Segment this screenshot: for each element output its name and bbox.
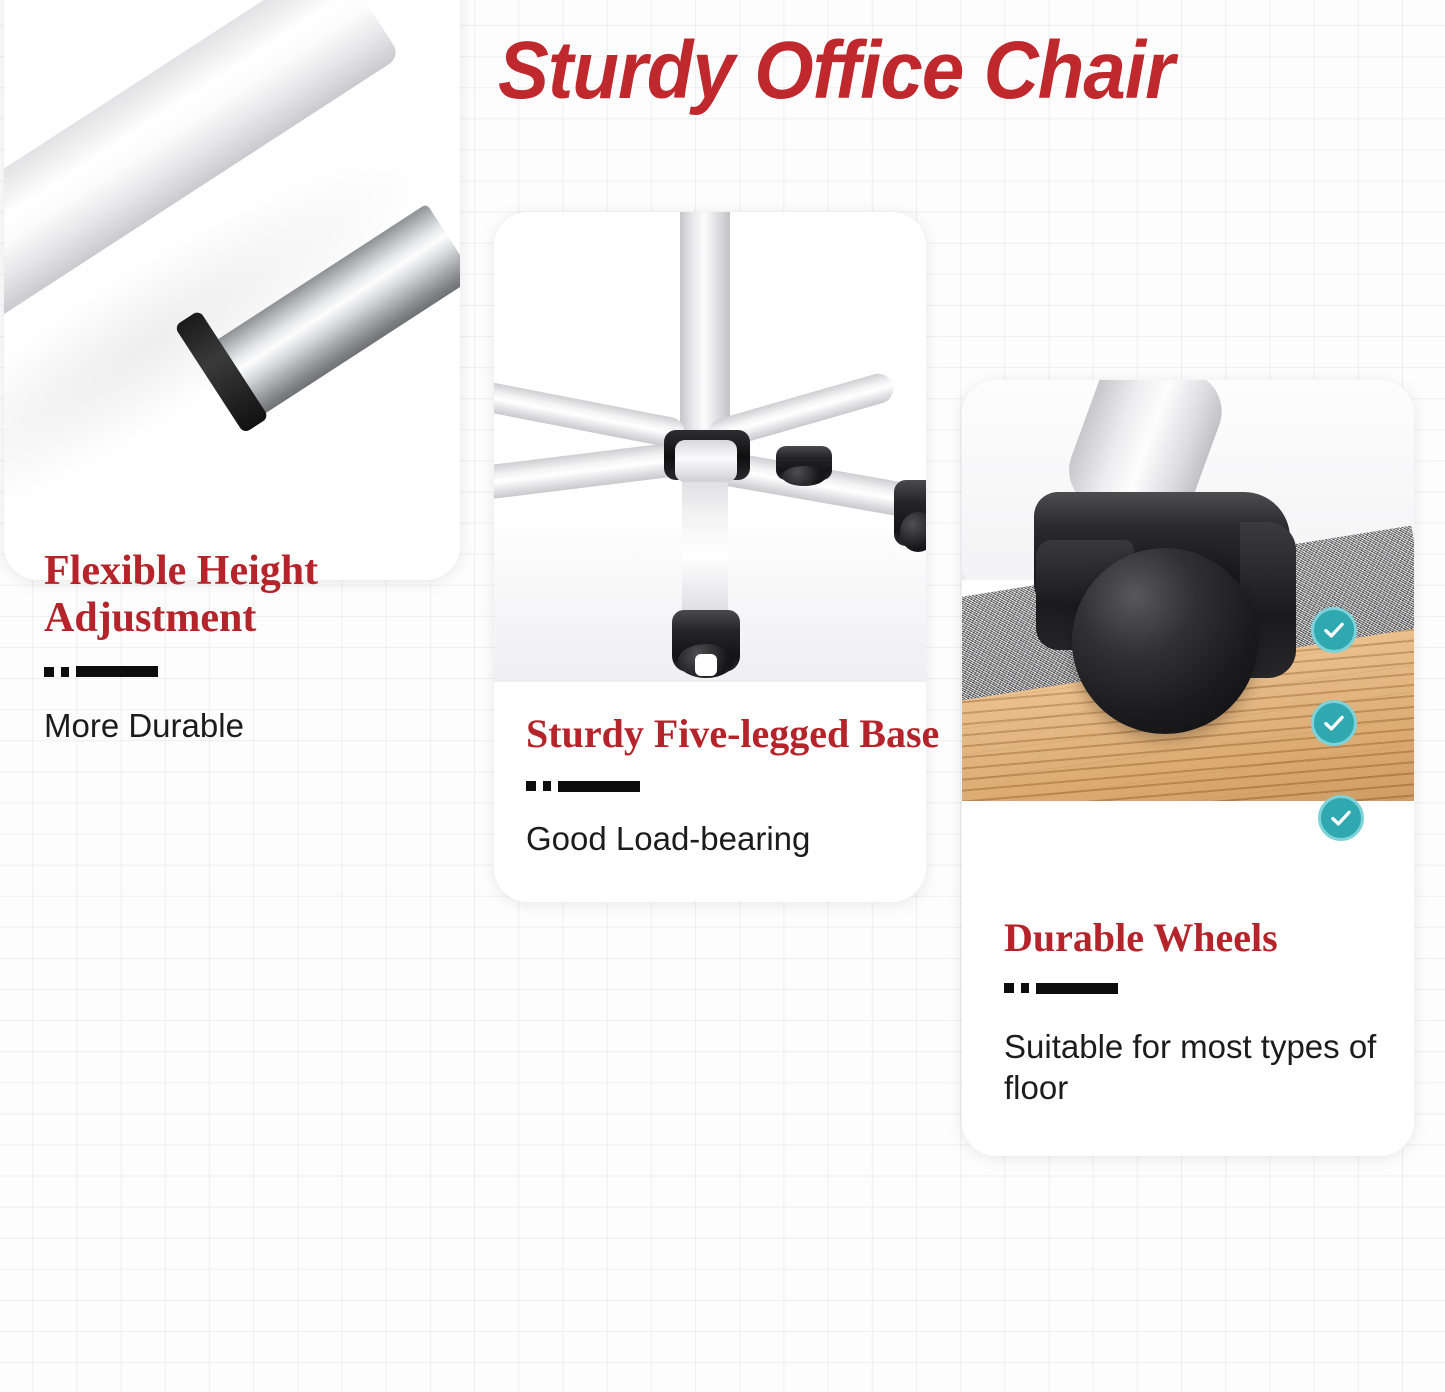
feature-heading: Flexible Height Adjustment [44, 548, 444, 642]
divider-dash-2 [61, 667, 69, 677]
caster-notch [695, 654, 717, 676]
photo-caster-wheel-on-floors [962, 380, 1414, 853]
caster-tire [1072, 548, 1258, 734]
feature-heading: Durable Wheels [1004, 916, 1404, 961]
page-title: Sturdy Office Chair [498, 28, 1372, 114]
base-caster-right-far [894, 480, 926, 546]
base-caster-front [672, 610, 740, 672]
divider-bar [558, 781, 640, 792]
base-hub-collar [675, 440, 737, 482]
caption-flexible-height: Flexible Height Adjustment More Durable [44, 548, 444, 746]
caption-divider [526, 781, 946, 792]
feature-subtitle: Suitable for most types of floor [1004, 1026, 1404, 1109]
feature-heading: Sturdy Five-legged Base [526, 712, 946, 757]
caption-five-legged-base: Sturdy Five-legged Base Good Load-bearin… [526, 712, 946, 859]
divider-dash-1 [526, 781, 536, 791]
caption-durable-wheels: Durable Wheels Suitable for most types o… [1004, 916, 1404, 1108]
check-circle-icon-marble [1311, 607, 1357, 653]
caption-divider [44, 666, 444, 677]
feature-subtitle: Good Load-bearing [526, 818, 946, 859]
divider-bar [1036, 983, 1118, 994]
divider-bar [76, 666, 158, 677]
feature-subtitle: More Durable [44, 705, 444, 746]
base-leg-left-near [494, 373, 687, 450]
divider-dash-2 [543, 781, 551, 791]
divider-dash-1 [44, 667, 54, 677]
caption-divider [1004, 983, 1404, 994]
photo-five-legged-base [494, 212, 926, 682]
divider-dash-1 [1004, 983, 1014, 993]
caster-wheel [782, 466, 826, 486]
product-feature-infographic: Sturdy Office Chair [0, 0, 1445, 1392]
photo-gas-lift-cylinder [4, 0, 460, 580]
base-caster-right-mid [776, 446, 832, 480]
check-circle-icon-carpet [1311, 700, 1357, 746]
check-circle-icon-wood [1318, 795, 1364, 841]
divider-dash-2 [1021, 983, 1029, 993]
feature-card-flexible-height [4, 0, 460, 580]
